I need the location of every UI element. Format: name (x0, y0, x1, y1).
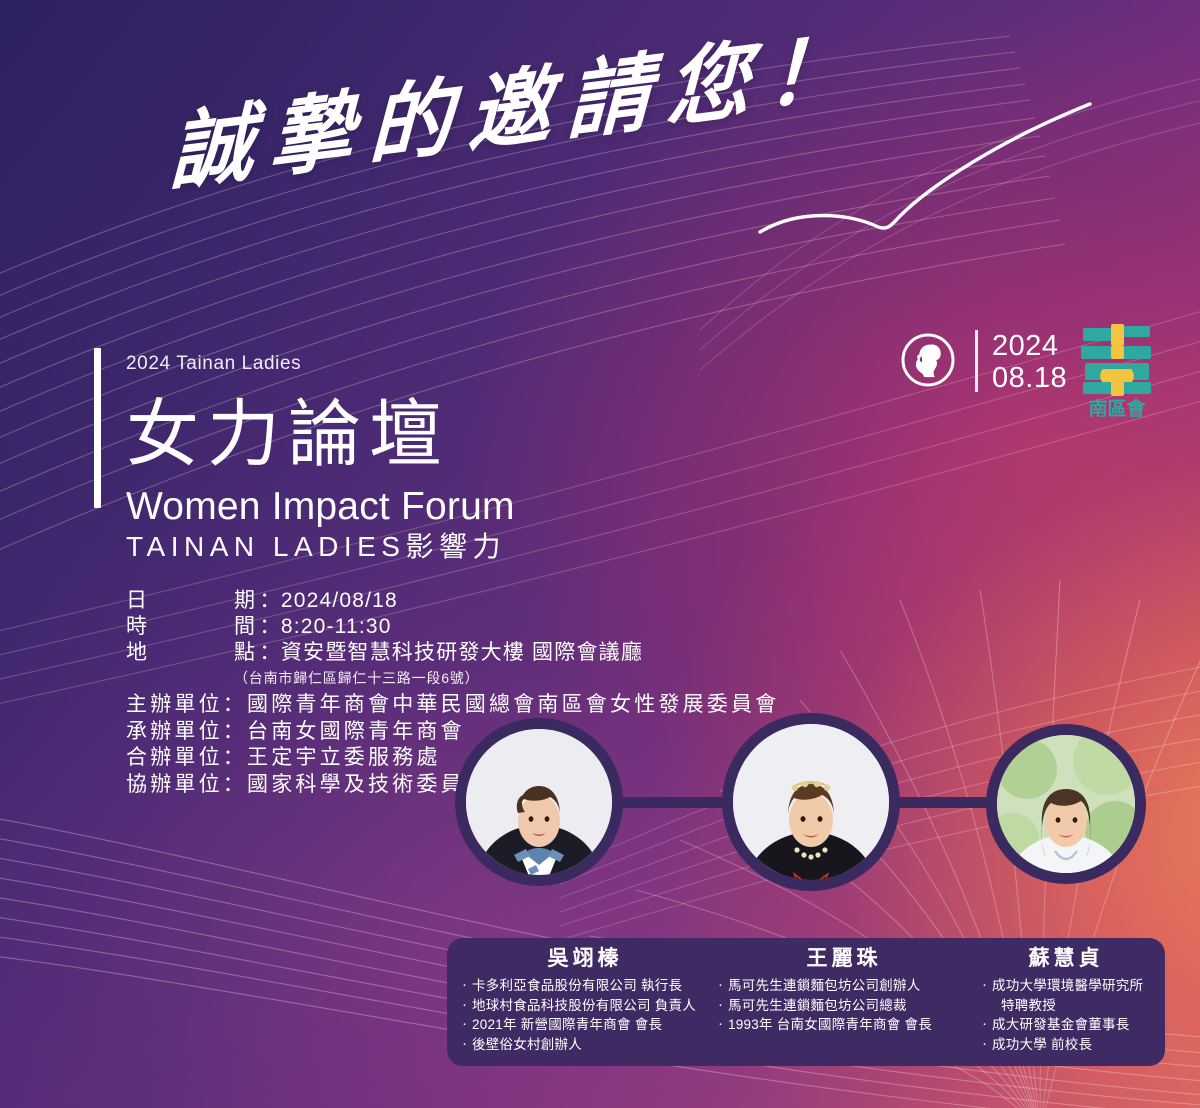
jci-south-region-logo: 南區會 (1075, 322, 1159, 417)
date-year: 2024 (992, 330, 1059, 362)
avatar-illustration-2 (733, 724, 889, 880)
page-title-english: Women Impact Forum (126, 487, 515, 526)
speaker-name-3: 蘇慧貞 (973, 947, 1159, 971)
poster-root: 誠摯的邀請您！ 2024 Tainan Ladies 女力論壇 Women Im… (0, 0, 1200, 1108)
avatar-illustration-3 (997, 735, 1135, 873)
speakers-panel: 吳翊榛 卡多利亞食品股份有限公司 執行長 地球村食品科技股份有限公司 負責人 2… (447, 938, 1165, 1066)
speaker-bio-list-2: 馬可先生連鎖麵包坊公司創辦人 馬可先生連鎖麵包坊公司總裁 1993年 台南女國際… (717, 976, 973, 1035)
organizer-line-main: 主辦單位：國際青年商會中華民國總會南區會女性發展委員會 (126, 692, 806, 719)
speaker-bio-list-1: 卡多利亞食品股份有限公司 執行長 地球村食品科技股份有限公司 負責人 2021年… (461, 976, 715, 1054)
list-item: 成功大學環境醫學研究所 (981, 976, 1159, 996)
speaker-column-1: 吳翊榛 卡多利亞食品股份有限公司 執行長 地球村食品科技股份有限公司 負責人 2… (447, 938, 715, 1066)
speaker-name-2: 王麗珠 (715, 947, 973, 971)
info-tail-time: 間 (234, 614, 255, 640)
list-item: 成功大學 前校長 (981, 1035, 1159, 1055)
page-title: 女力論壇 (126, 398, 450, 471)
date-monthday: 08.18 (992, 362, 1067, 394)
list-item: 成大研發基金會董事長 (981, 1015, 1159, 1035)
info-value-date: 2024/08/18 (281, 588, 398, 614)
info-colon-date: ： (259, 588, 280, 614)
info-value-time: 8:20-11:30 (281, 614, 392, 640)
logo-caption: 南區會 (1088, 397, 1146, 417)
list-item: 馬可先生連鎖麵包坊公司創辦人 (717, 976, 973, 996)
speaker-name-1: 吳翊榛 (455, 947, 715, 971)
list-item: 後壁俗女村創辦人 (461, 1035, 715, 1055)
speaker-bio-list-3: 成功大學環境醫學研究所 特聘教授 成大研發基金會董事長 成功大學 前校長 (981, 976, 1159, 1054)
list-item: 地球村食品科技股份有限公司 負責人 (461, 996, 715, 1016)
speaker-column-2: 王麗珠 馬可先生連鎖麵包坊公司創辦人 馬可先生連鎖麵包坊公司總裁 1993年 台… (715, 938, 973, 1066)
info-colon-time: ： (259, 614, 280, 640)
info-key-venue: 地 (126, 640, 234, 666)
info-tail-date: 期 (234, 588, 255, 614)
info-row-time: 時間：8:20-11:30 (126, 614, 806, 640)
date-divider (975, 330, 978, 392)
info-row-venue: 地點：資安暨智慧科技研發大樓 國際會議廳 (126, 640, 806, 666)
list-item: 1993年 台南女國際青年商會 會長 (717, 1015, 973, 1035)
event-date-badge: 2024 08.18 (992, 330, 1067, 394)
info-value-venue: 資安暨智慧科技研發大樓 國際會議廳 (281, 640, 643, 666)
speaker-photo-1 (455, 718, 623, 886)
speaker-column-3: 蘇慧貞 成功大學環境醫學研究所 特聘教授 成大研發基金會董事長 成功大學 前校長 (973, 938, 1165, 1066)
list-item: 2021年 新營國際青年商會 會長 (461, 1015, 715, 1035)
eyebrow-label: 2024 Tainan Ladies (126, 353, 301, 375)
connector-bar-1 (612, 797, 740, 808)
speaker-photo-2 (722, 713, 900, 891)
info-row-date: 日期：2024/08/18 (126, 588, 806, 614)
venue-address: （台南市歸仁區歸仁十三路一段6號） (234, 668, 806, 688)
info-key-time: 時 (126, 614, 234, 640)
info-colon-venue: ： (259, 640, 280, 666)
title-accent-bar (94, 348, 101, 508)
info-tail-venue: 點 (234, 640, 255, 666)
connector-bar-2 (884, 797, 1002, 808)
info-key-date: 日 (126, 588, 234, 614)
avatar-illustration-1 (466, 729, 612, 875)
list-item: 卡多利亞食品股份有限公司 執行長 (461, 976, 715, 996)
list-item: 馬可先生連鎖麵包坊公司總裁 (717, 996, 973, 1016)
page-subtitle: TAINAN LADIES影響力 (126, 533, 506, 561)
speaker-photo-3 (986, 724, 1146, 884)
list-item-continuation: 特聘教授 (981, 996, 1159, 1016)
headline-calligraphy: 誠摯的邀請您！ (168, 0, 966, 237)
woman-silhouette-icon (900, 332, 956, 388)
